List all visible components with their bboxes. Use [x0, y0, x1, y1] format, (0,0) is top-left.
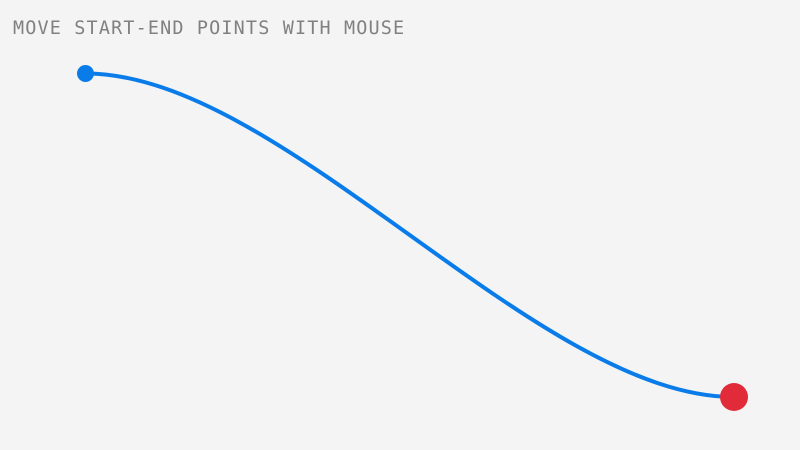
page-title: MOVE START-END POINTS WITH MOUSE: [13, 16, 405, 40]
end-point-drag-target[interactable]: [714, 377, 754, 417]
canvas-background: [0, 0, 800, 450]
start-point-drag-target[interactable]: [70, 58, 101, 89]
bezier-demo-app: MOVE START-END POINTS WITH MOUSE: [0, 0, 800, 450]
bezier-canvas[interactable]: [0, 0, 800, 450]
